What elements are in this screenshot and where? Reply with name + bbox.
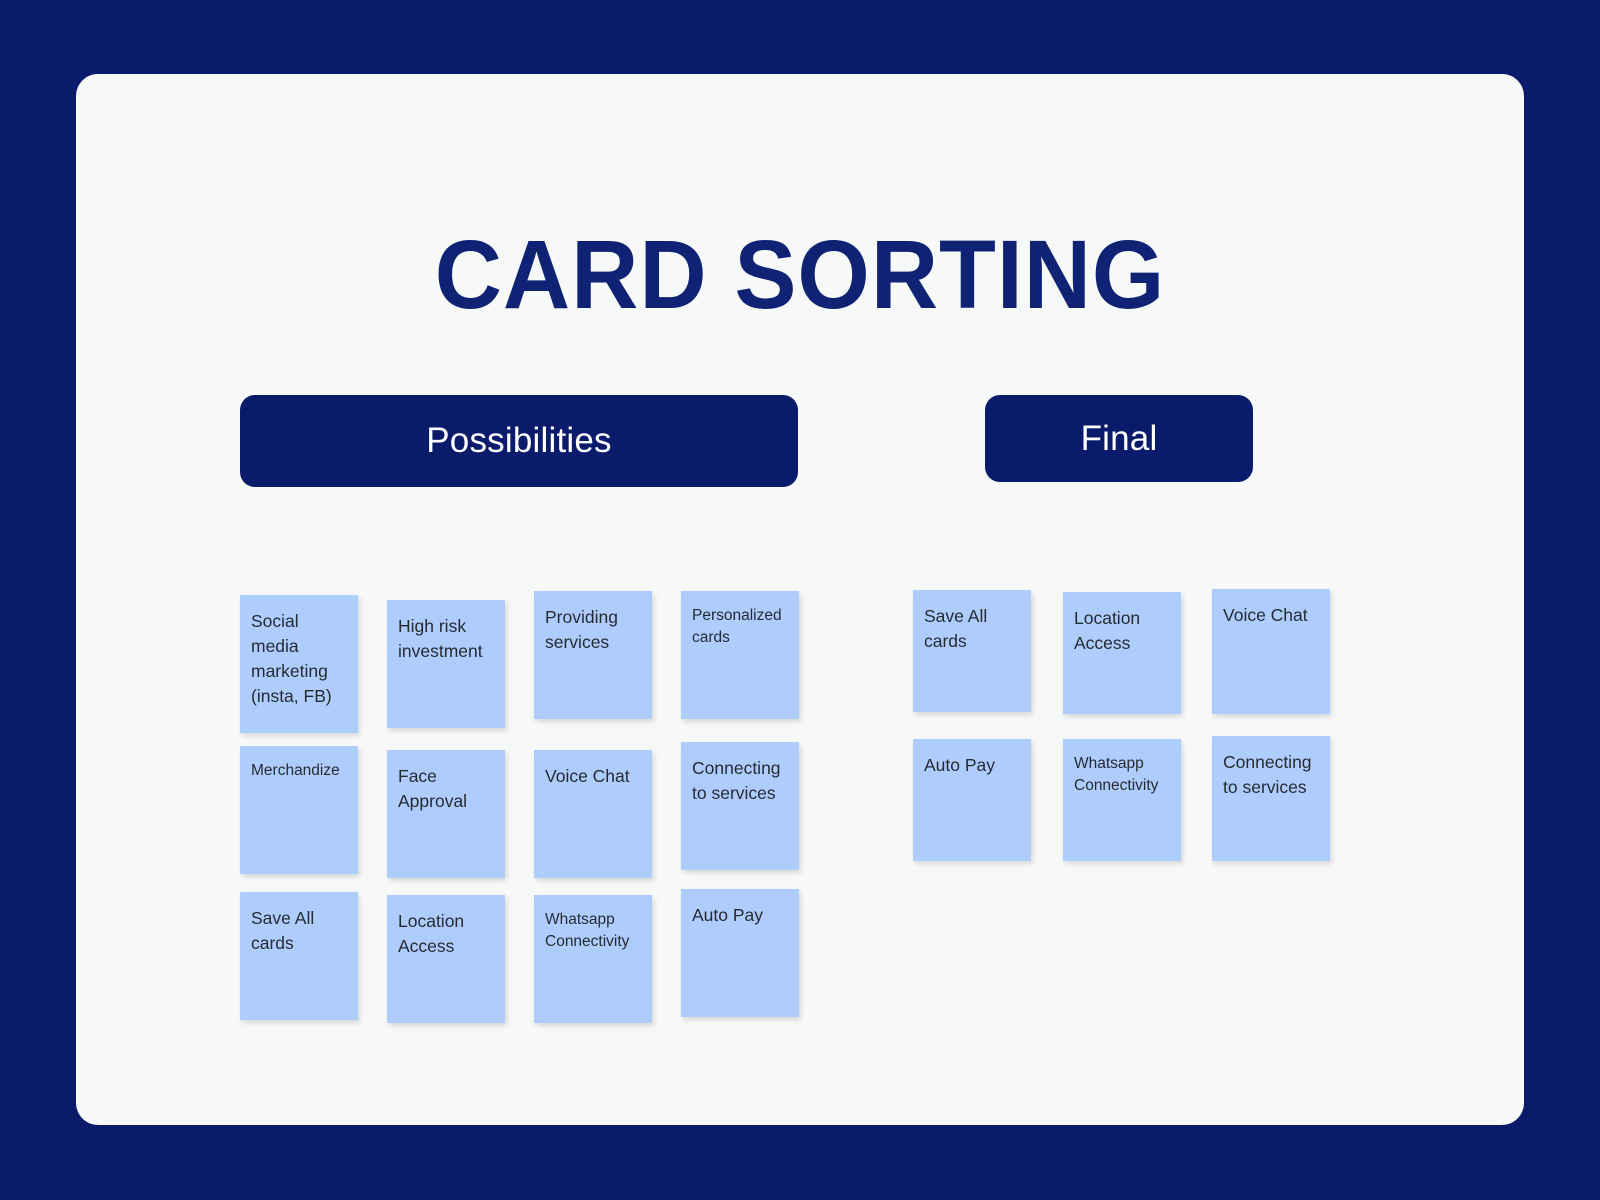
sorting-card-label: Whatsapp Connectivity bbox=[1074, 753, 1169, 797]
sorting-card[interactable]: Save All cards bbox=[913, 590, 1031, 712]
sorting-card[interactable]: Face Approval bbox=[387, 750, 505, 878]
sorting-card-label: Location Access bbox=[1074, 606, 1169, 656]
column-header-possibilities-label: Possibilities bbox=[426, 421, 611, 461]
sorting-card[interactable]: Auto Pay bbox=[681, 889, 799, 1017]
sorting-card-label: Voice Chat bbox=[1223, 603, 1318, 628]
sorting-card-label: Connecting to services bbox=[1223, 750, 1318, 800]
column-header-final[interactable]: Final bbox=[985, 395, 1253, 482]
sorting-card[interactable]: High risk investment bbox=[387, 600, 505, 728]
sorting-card-label: Merchandize bbox=[251, 760, 346, 782]
sorting-card[interactable]: Whatsapp Connectivity bbox=[534, 895, 652, 1023]
page-title: CARD SORTING bbox=[105, 226, 1495, 323]
sorting-card[interactable]: Location Access bbox=[387, 895, 505, 1023]
sorting-card[interactable]: Whatsapp Connectivity bbox=[1063, 739, 1181, 861]
sorting-card[interactable]: Voice Chat bbox=[534, 750, 652, 878]
column-header-possibilities[interactable]: Possibilities bbox=[240, 395, 798, 487]
sorting-card-label: Save All cards bbox=[251, 906, 346, 956]
sorting-card-label: Save All cards bbox=[924, 604, 1019, 654]
sorting-card[interactable]: Location Access bbox=[1063, 592, 1181, 714]
sorting-card-label: Providing services bbox=[545, 605, 640, 655]
sorting-card-label: Location Access bbox=[398, 909, 493, 959]
sorting-card[interactable]: Save All cards bbox=[240, 892, 358, 1020]
sorting-card-label: Connecting to services bbox=[692, 756, 787, 806]
sorting-card[interactable]: Voice Chat bbox=[1212, 589, 1330, 714]
sorting-card-label: High risk investment bbox=[398, 614, 493, 664]
sorting-card-label: Whatsapp Connectivity bbox=[545, 909, 640, 953]
sorting-card[interactable]: Personalized cards bbox=[681, 591, 799, 719]
sorting-card[interactable]: Social media marketing (insta, FB) bbox=[240, 595, 358, 733]
sorting-card-label: Social media marketing (insta, FB) bbox=[251, 609, 346, 708]
content-board: CARD SORTING Possibilities Final Social … bbox=[76, 74, 1524, 1125]
sorting-card-label: Auto Pay bbox=[692, 903, 787, 928]
sorting-card[interactable]: Providing services bbox=[534, 591, 652, 719]
sorting-card-label: Auto Pay bbox=[924, 753, 1019, 778]
sorting-card[interactable]: Connecting to services bbox=[681, 742, 799, 870]
sorting-card[interactable]: Merchandize bbox=[240, 746, 358, 874]
sorting-card[interactable]: Auto Pay bbox=[913, 739, 1031, 861]
column-header-final-label: Final bbox=[1081, 419, 1158, 459]
sorting-card-label: Face Approval bbox=[398, 764, 493, 814]
sorting-card-label: Voice Chat bbox=[545, 764, 640, 789]
sorting-card[interactable]: Connecting to services bbox=[1212, 736, 1330, 861]
sorting-card-label: Personalized cards bbox=[692, 605, 787, 649]
